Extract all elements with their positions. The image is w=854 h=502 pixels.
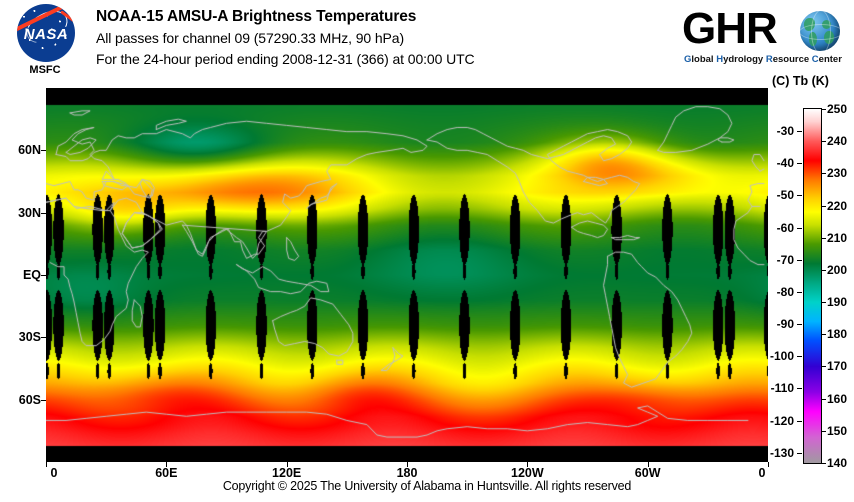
colorbar-label-kelvin-180: 180: [827, 327, 847, 341]
latitude-axis-ticks: [0, 88, 46, 462]
colorbar-tick-celsius: [797, 163, 802, 164]
colorbar-label-celsius-60: -60: [777, 221, 794, 235]
colorbar-tick-kelvin: [821, 206, 826, 207]
colorbar-label-kelvin-190: 190: [827, 295, 847, 309]
colorbar-tick-kelvin: [821, 109, 826, 110]
colorbar-label-celsius-70: -70: [777, 253, 794, 267]
colorbar-tick-kelvin: [821, 141, 826, 142]
latitude-tick: [41, 275, 46, 276]
colorbar-tick-celsius: [797, 453, 802, 454]
longitude-label-0: 0: [51, 466, 58, 480]
colorbar-tick-kelvin: [821, 238, 826, 239]
colorbar-label-kelvin-170: 170: [827, 359, 847, 373]
colorbar-label-kelvin-220: 220: [827, 199, 847, 213]
longitude-tick: [768, 462, 769, 467]
colorbar-tick-celsius: [797, 260, 802, 261]
longitude-tick: [46, 462, 47, 467]
page-title: NOAA-15 AMSU-A Brightness Temperatures: [96, 6, 676, 28]
colorbar-tick-celsius: [797, 292, 802, 293]
colorbar-label-celsius-100: -100: [770, 349, 794, 363]
colorbar-tick-celsius: [797, 195, 802, 196]
colorbar-label-kelvin-250: 250: [827, 102, 847, 116]
colorbar-tick-kelvin: [821, 302, 826, 303]
colorbar-tick-kelvin: [821, 270, 826, 271]
colorbar-tick-celsius: [797, 324, 802, 325]
colorbar-label-kelvin-200: 200: [827, 263, 847, 277]
colorbar-gradient-bar: [803, 108, 822, 464]
longitude-label-180: 180: [397, 466, 418, 480]
ghrc-logo: GHR Global Hydrology Resource Center: [682, 4, 848, 76]
colorbar-label-celsius-50: -50: [777, 188, 794, 202]
colorbar-tick-kelvin: [821, 463, 826, 464]
colorbar-gradient: [804, 109, 821, 463]
colorbar-label-kelvin-140: 140: [827, 456, 847, 470]
colorbar-label-kelvin-240: 240: [827, 134, 847, 148]
colorbar-label-kelvin-160: 160: [827, 392, 847, 406]
colorbar-label-celsius-110: -110: [771, 381, 794, 395]
colorbar: (C) Tb (K) 25024023022021020019018017016…: [776, 88, 854, 468]
brightness-temperature-heatmap: [46, 88, 768, 462]
colorbar-label-celsius-40: -40: [777, 156, 794, 170]
subtitle-channel: All passes for channel 09 (57290.33 MHz,…: [96, 28, 676, 49]
longitude-label-120e: 120E: [272, 466, 301, 480]
nasa-logo: NASA MSFC: [8, 4, 82, 82]
colorbar-tick-celsius: [797, 388, 802, 389]
colorbar-header: (C) Tb (K): [772, 74, 854, 88]
colorbar-label-celsius-130: -130: [770, 446, 794, 460]
colorbar-label-kelvin-230: 230: [827, 166, 847, 180]
latitude-tick: [41, 213, 46, 214]
colorbar-tick-celsius: [797, 131, 802, 132]
colorbar-label-kelvin-150: 150: [827, 424, 847, 438]
longitude-label-0: 0: [759, 466, 766, 480]
longitude-label-60w: 60W: [635, 466, 661, 480]
latitude-tick: [41, 400, 46, 401]
colorbar-tick-kelvin: [821, 366, 826, 367]
copyright-notice: Copyright © 2025 The University of Alaba…: [0, 479, 854, 493]
ghrc-globe-icon: [800, 11, 840, 51]
ghrc-tagline: Global Hydrology Resource Center: [684, 54, 848, 66]
screenshot-root: NASA MSFC NOAA-15 AMSU-A Brightness Temp…: [0, 0, 854, 502]
nasa-meatball-icon: NASA: [17, 4, 75, 62]
nasa-center-label: MSFC: [8, 64, 82, 76]
colorbar-label-celsius-90: -90: [777, 317, 794, 331]
longitude-label-120w: 120W: [511, 466, 544, 480]
colorbar-tick-kelvin: [821, 431, 826, 432]
colorbar-label-celsius-30: -30: [777, 124, 794, 138]
colorbar-tick-celsius: [797, 228, 802, 229]
colorbar-label-celsius-120: -120: [770, 414, 794, 428]
subtitle-period: For the 24-hour period ending 2008-12-31…: [96, 49, 676, 70]
latitude-tick: [41, 337, 46, 338]
longitude-label-60e: 60E: [155, 466, 177, 480]
colorbar-label-celsius-80: -80: [777, 285, 794, 299]
colorbar-tick-kelvin: [821, 399, 826, 400]
colorbar-label-kelvin-210: 210: [827, 231, 847, 245]
latitude-tick: [41, 150, 46, 151]
colorbar-tick-celsius: [797, 356, 802, 357]
title-block: NOAA-15 AMSU-A Brightness Temperatures A…: [96, 6, 676, 70]
colorbar-tick-celsius: [797, 421, 802, 422]
colorbar-tick-kelvin: [821, 334, 826, 335]
nasa-wordmark: NASA: [17, 26, 75, 43]
map-plot-area: [46, 88, 768, 462]
colorbar-tick-kelvin: [821, 173, 826, 174]
